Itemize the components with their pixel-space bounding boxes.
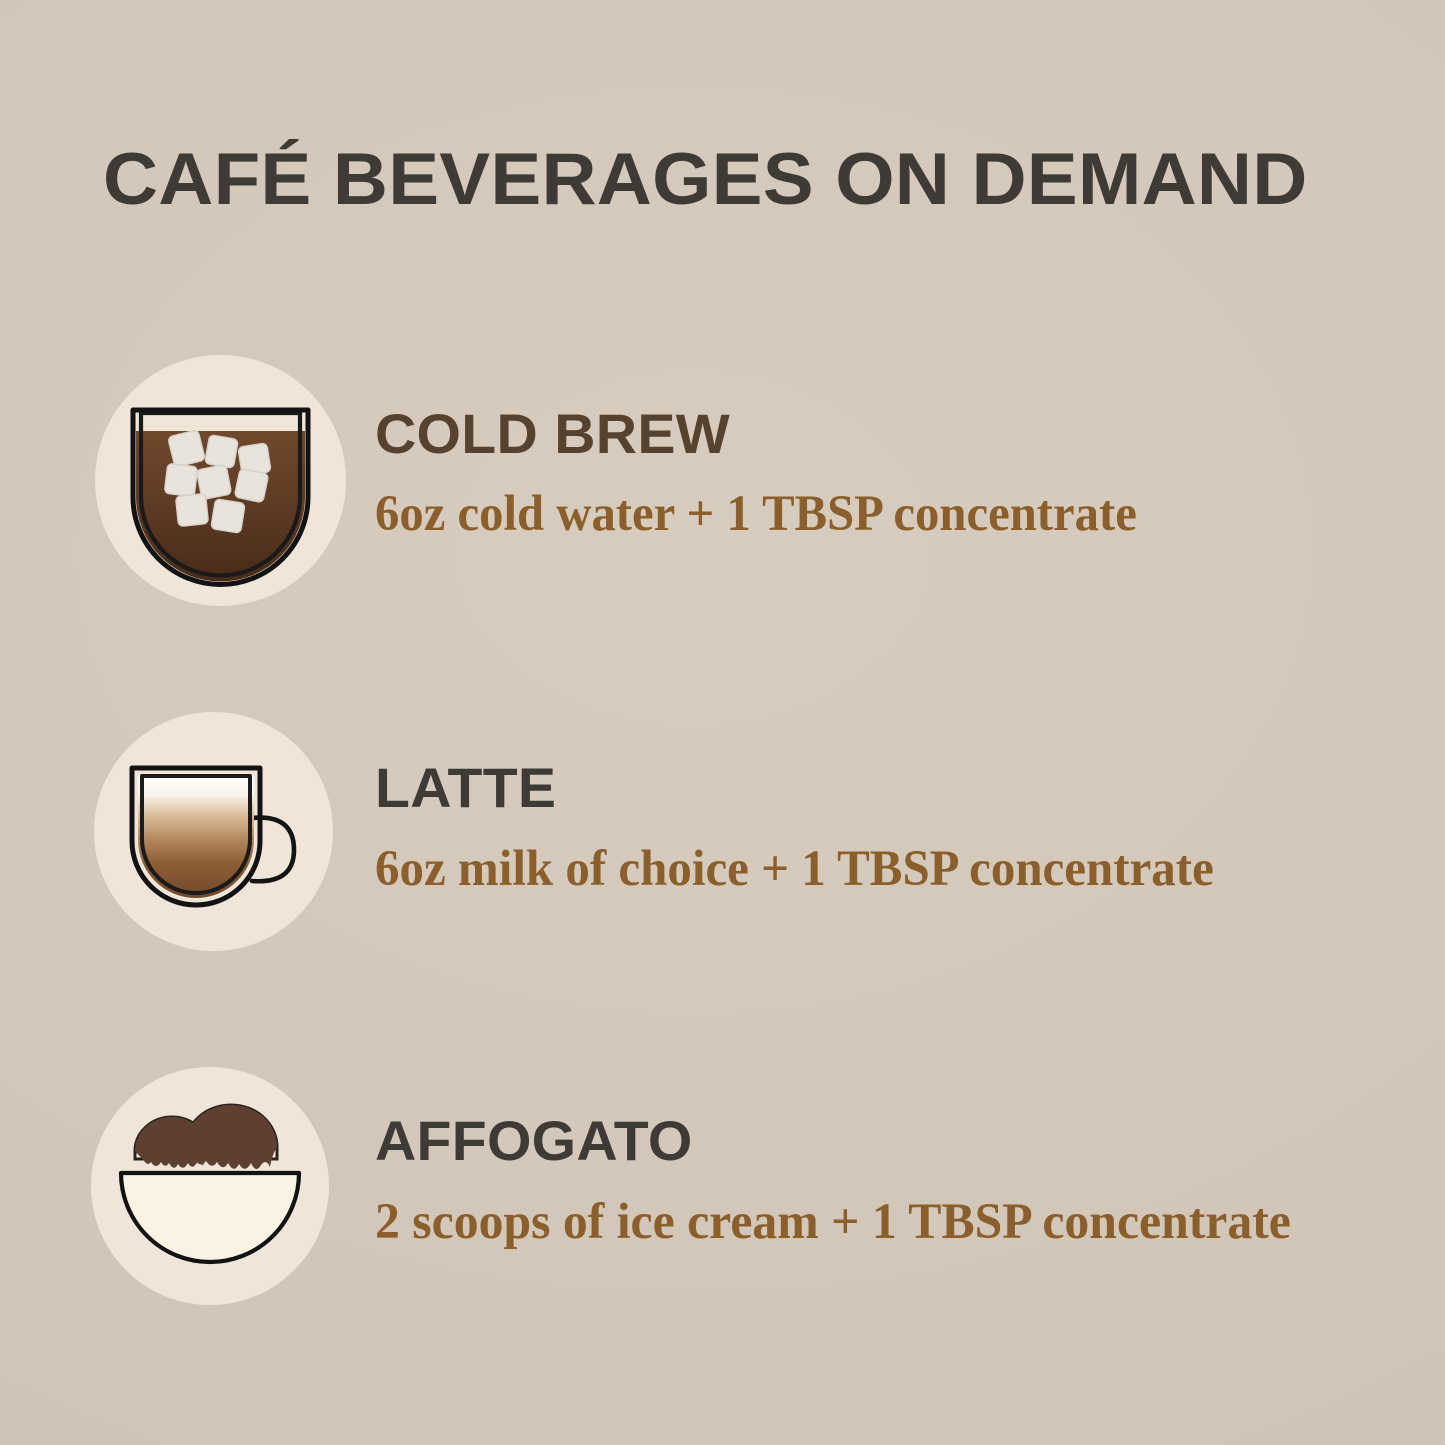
beverage-description: 6oz milk of choice + 1 TBSP concentrate — [375, 840, 1378, 898]
latte-cup-icon — [94, 712, 333, 951]
beverage-text-affogato: AFFOGATO 2 scoops of ice cream + 1 TBSP … — [375, 1110, 1420, 1251]
icon-badge-cold-brew — [95, 355, 346, 606]
beverage-text-latte: LATTE 6oz milk of choice + 1 TBSP concen… — [375, 757, 1420, 898]
icon-badge-affogato — [91, 1067, 329, 1305]
beverage-row-affogato: AFFOGATO 2 scoops of ice cream + 1 TBSP … — [0, 1067, 1445, 1307]
beverage-row-latte: LATTE 6oz milk of choice + 1 TBSP concen… — [0, 712, 1445, 952]
beverage-name: COLD BREW — [375, 403, 1441, 465]
beverage-text-cold-brew: COLD BREW 6oz cold water + 1 TBSP concen… — [375, 403, 1420, 543]
beverage-row-cold-brew: COLD BREW 6oz cold water + 1 TBSP concen… — [0, 355, 1445, 607]
cafe-beverages-poster: CAFÉ BEVERAGES ON DEMAND — [0, 0, 1445, 1445]
beverage-description: 2 scoops of ice cream + 1 TBSP concentra… — [375, 1193, 1394, 1251]
page-title: CAFÉ BEVERAGES ON DEMAND — [103, 140, 1441, 220]
beverage-name: LATTE — [375, 757, 1441, 819]
beverage-name: AFFOGATO — [375, 1110, 1441, 1172]
ice-cream-bowl-icon — [91, 1067, 329, 1305]
icon-badge-latte — [94, 712, 333, 951]
beverage-description: 6oz cold water + 1 TBSP concentrate — [375, 485, 1373, 543]
iced-coffee-glass-icon — [95, 355, 346, 606]
